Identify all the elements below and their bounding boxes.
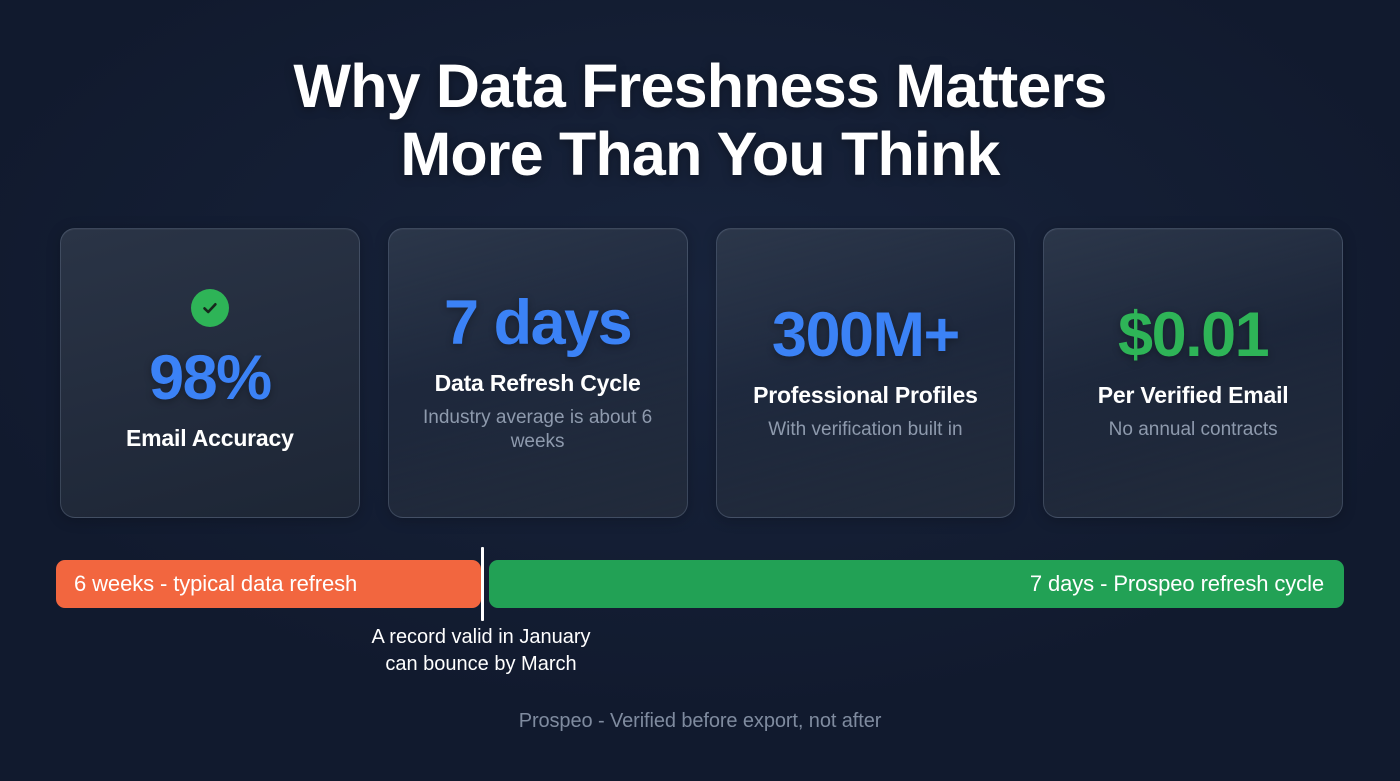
stat-label: Professional Profiles [753,380,978,410]
page-title-line-2: More Than You Think [0,120,1400,188]
stat-value: 7 days [444,288,631,358]
bar-typical-refresh-label: 6 weeks - typical data refresh [74,571,357,597]
bar-prospeo-refresh-label: 7 days - Prospeo refresh cycle [1030,571,1324,597]
stat-label: Data Refresh Cycle [435,368,641,398]
bar-divider-marker [481,547,484,621]
divider-annotation-line-2: can bounce by March [301,651,661,678]
stat-card-per-verified-email: $0.01 Per Verified Email No annual contr… [1043,228,1343,518]
divider-annotation-line-1: A record valid in January [301,624,661,651]
stat-card-email-accuracy: 98% Email Accuracy [60,228,360,518]
divider-annotation: A record valid in January can bounce by … [301,624,661,678]
stat-sublabel: Industry average is about 6 weeks [418,406,658,454]
bar-typical-refresh: 6 weeks - typical data refresh [56,560,481,608]
stat-label: Email Accuracy [126,423,294,453]
infographic-root: Why Data Freshness Matters More Than You… [0,0,1400,781]
stat-sublabel: With verification built in [768,418,962,442]
bar-prospeo-refresh: 7 days - Prospeo refresh cycle [489,560,1344,608]
stat-value: 98% [149,343,271,413]
page-title-line-1: Why Data Freshness Matters [0,52,1400,120]
comparison-bar-chart: 6 weeks - typical data refresh 7 days - … [56,560,1344,608]
stat-label: Per Verified Email [1098,380,1289,410]
stat-sublabel: No annual contracts [1109,418,1278,442]
stat-value: $0.01 [1118,300,1268,370]
footer-tagline: Prospeo - Verified before export, not af… [0,710,1400,733]
stat-value: 300M+ [772,300,959,370]
stat-card-professional-profiles: 300M+ Professional Profiles With verific… [716,228,1016,518]
stat-card-group: 98% Email Accuracy 7 days Data Refresh C… [60,228,1343,518]
check-circle-icon [191,289,229,327]
page-title: Why Data Freshness Matters More Than You… [0,52,1400,188]
stat-card-data-refresh-cycle: 7 days Data Refresh Cycle Industry avera… [388,228,688,518]
